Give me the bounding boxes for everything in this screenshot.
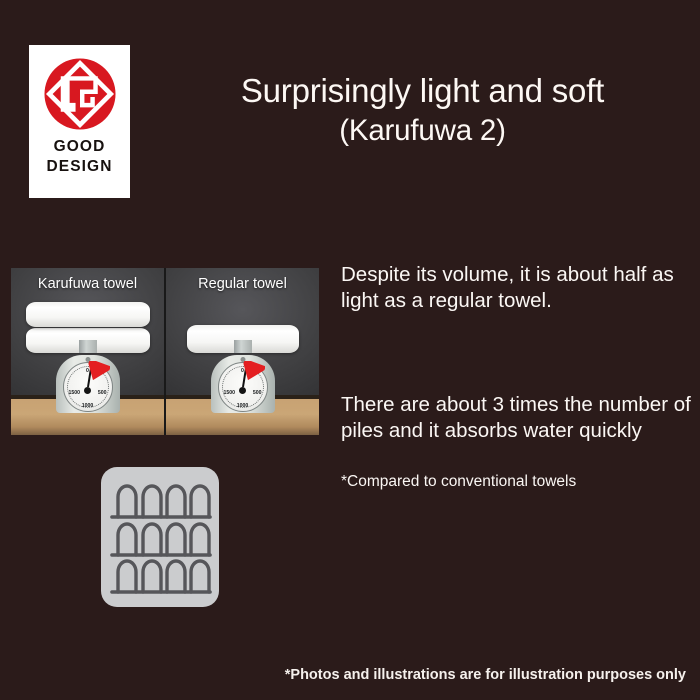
copy-note: *Compared to conventional towels [341, 472, 693, 491]
photo-karufuwa: Karufuwa towel 0 1500 500 1000 [11, 268, 166, 435]
dial-number-left-left: 1500 [69, 390, 81, 396]
badge-line-2: DESIGN [46, 157, 112, 177]
slide-canvas: GOOD DESIGN Surprisingly light and soft … [0, 0, 700, 700]
photo-regular: Regular towel 0 1500 500 1000 [166, 268, 319, 435]
dial-hub-left [84, 387, 91, 394]
copy-paragraph-2: There are about 3 times the number of pi… [341, 392, 693, 444]
good-design-badge-text: GOOD DESIGN [46, 137, 112, 177]
red-arrow-icon-right [239, 361, 265, 383]
photo-label-karufuwa: Karufuwa towel [11, 276, 164, 292]
dial-number-bottom-left: 1000 [82, 403, 94, 409]
dial-number-right-left: 500 [98, 390, 107, 396]
dial-number-right-right: 500 [253, 390, 262, 396]
dial-hub-right [239, 387, 246, 394]
headline-group: Surprisingly light and soft (Karufuwa 2) [150, 72, 695, 149]
scale-neck-left [79, 340, 97, 353]
dial-number-left-right: 1500 [224, 390, 236, 396]
dial-number-bottom-right: 1000 [237, 403, 249, 409]
copy-paragraph-1: Despite its volume, it is about half as … [341, 262, 693, 314]
pile-illustration-card [101, 467, 219, 607]
comparison-photo-panel: Karufuwa towel 0 1500 500 1000 [11, 268, 319, 435]
footer-disclaimer: *Photos and illustrations are for illust… [0, 667, 686, 683]
red-arrow-icon-left [84, 361, 110, 383]
scale-neck-right [234, 340, 252, 353]
headline-sub: (Karufuwa 2) [150, 113, 695, 148]
pile-loops-icon [108, 475, 212, 599]
photo-label-regular: Regular towel [166, 276, 319, 292]
headline-main: Surprisingly light and soft [150, 72, 695, 110]
good-design-badge: GOOD DESIGN [29, 45, 130, 198]
good-design-logo-icon [43, 57, 117, 131]
badge-line-1: GOOD [46, 137, 112, 157]
towel-stack-top-karufuwa [26, 302, 150, 327]
